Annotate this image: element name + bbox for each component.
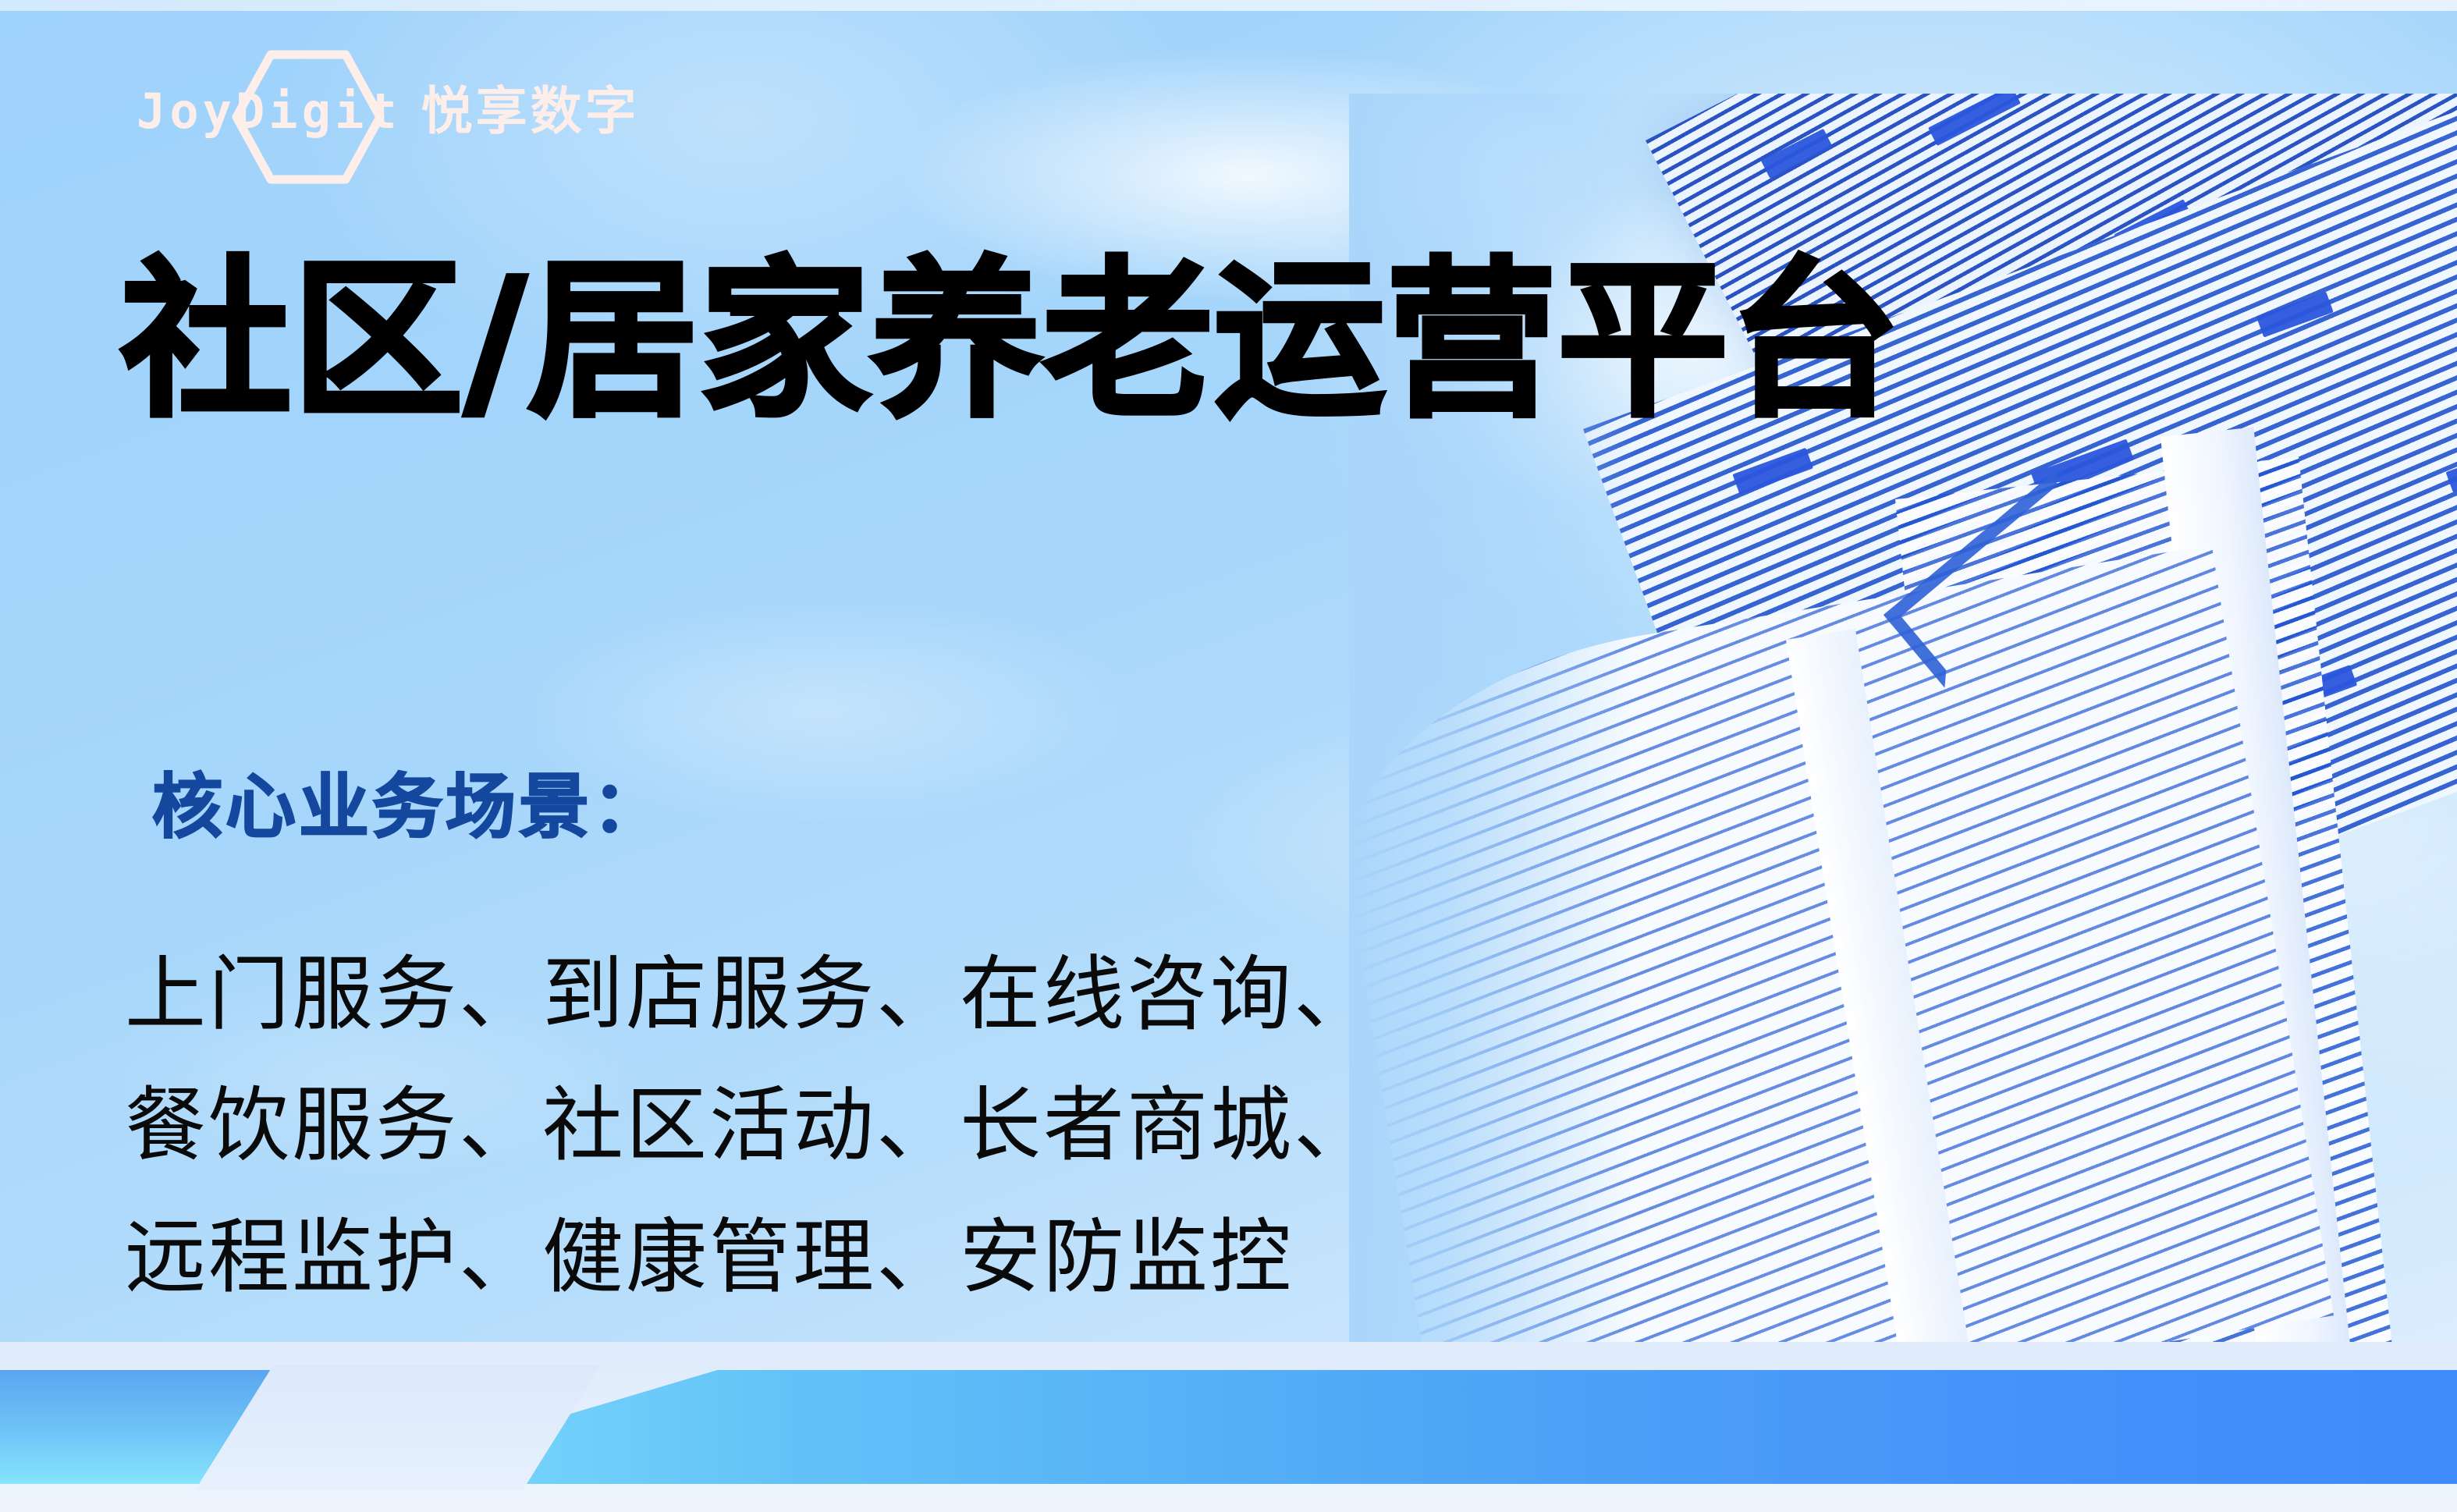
brand-logo[interactable]: JoyDigit 悦享数字 bbox=[137, 69, 640, 154]
logo-wordmark: JoyDigit bbox=[137, 87, 401, 136]
section-heading: 核心业务场景： bbox=[152, 772, 666, 843]
scene-line: 餐饮服务、社区活动、长者商城、 bbox=[125, 1059, 1377, 1191]
scene-line: 远程监护、健康管理、安防监控 bbox=[125, 1191, 1377, 1322]
slide-canvas: JoyDigit 悦享数字 社区/居家养老运营平台 核心业务场景： 上门服务、到… bbox=[0, 0, 2457, 1512]
scene-list: 上门服务、到店服务、在线咨询、 餐饮服务、社区活动、长者商城、 远程监护、健康管… bbox=[125, 928, 1377, 1322]
logo-chinese-name: 悦享数字 bbox=[421, 86, 640, 137]
page-title: 社区/居家养老运营平台 bbox=[121, 250, 1901, 433]
bottom-decorative-band bbox=[0, 1342, 2457, 1512]
scene-line: 上门服务、到店服务、在线咨询、 bbox=[125, 928, 1377, 1059]
top-light-strip bbox=[0, 0, 2457, 11]
